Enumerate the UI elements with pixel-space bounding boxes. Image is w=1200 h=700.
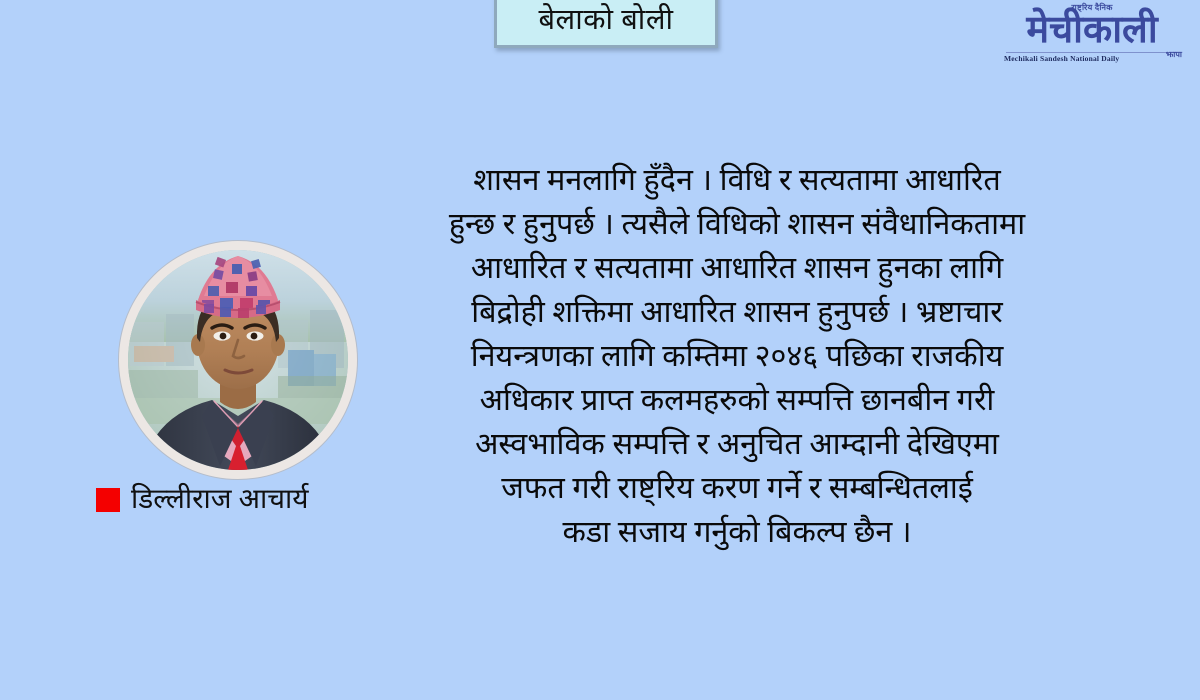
masthead-logo: राष्ट्रिय दैनिक मेचीकाली Mechikali Sande…	[998, 2, 1186, 66]
quote-text: शासन मनलागि हुँदैन । विधि र सत्यतामा आधा…	[392, 158, 1082, 554]
portrait-photo	[128, 250, 348, 470]
masthead-tagline: Mechikali Sandesh National Daily	[1004, 54, 1119, 63]
byline: डिल्लीराज आचार्य	[96, 486, 308, 514]
quote-line: शासन मनलागि हुँदैन । विधि र सत्यतामा आधा…	[392, 158, 1082, 202]
quote-line: अधिकार प्राप्त कलमहरुको सम्पत्ति छानबीन …	[392, 378, 1082, 422]
quote-card: बेलाको बोली राष्ट्रिय दैनिक मेचीकाली Mec…	[0, 0, 1200, 700]
masthead-divider	[1006, 52, 1178, 53]
quote-line: नियन्त्रणका लागि कम्तिमा २०४६ पछिका राजक…	[392, 334, 1082, 378]
quote-line: कडा सजाय गर्नुको बिकल्प छैन ।	[392, 510, 1082, 554]
portrait-illustration	[128, 250, 348, 470]
portrait	[119, 241, 357, 479]
masthead-place: झापा	[1166, 49, 1182, 60]
quote-line: बिद्रोही शक्तिमा आधारित शासन हुनुपर्छ । …	[392, 290, 1082, 334]
masthead-wordmark: मेचीकाली	[1026, 11, 1157, 49]
title-text: बेलाको बोली	[538, 2, 673, 35]
quote-line: जफत गरी राष्ट्रिय करण गर्ने र सम्बन्धितल…	[392, 466, 1082, 510]
quote-line: हुन्छ र हुनुपर्छ । त्यसैले विधिको शासन स…	[392, 202, 1082, 246]
quote-line: अस्वभाविक सम्पत्ति र अनुचित आम्दानी देखि…	[392, 422, 1082, 466]
quote-line: आधारित र सत्यतामा आधारित शासन हुनका लागि	[392, 246, 1082, 290]
byline-name: डिल्लीराज आचार्य	[131, 486, 308, 514]
title-banner: बेलाको बोली	[494, 0, 718, 48]
byline-bullet-icon	[96, 488, 120, 512]
